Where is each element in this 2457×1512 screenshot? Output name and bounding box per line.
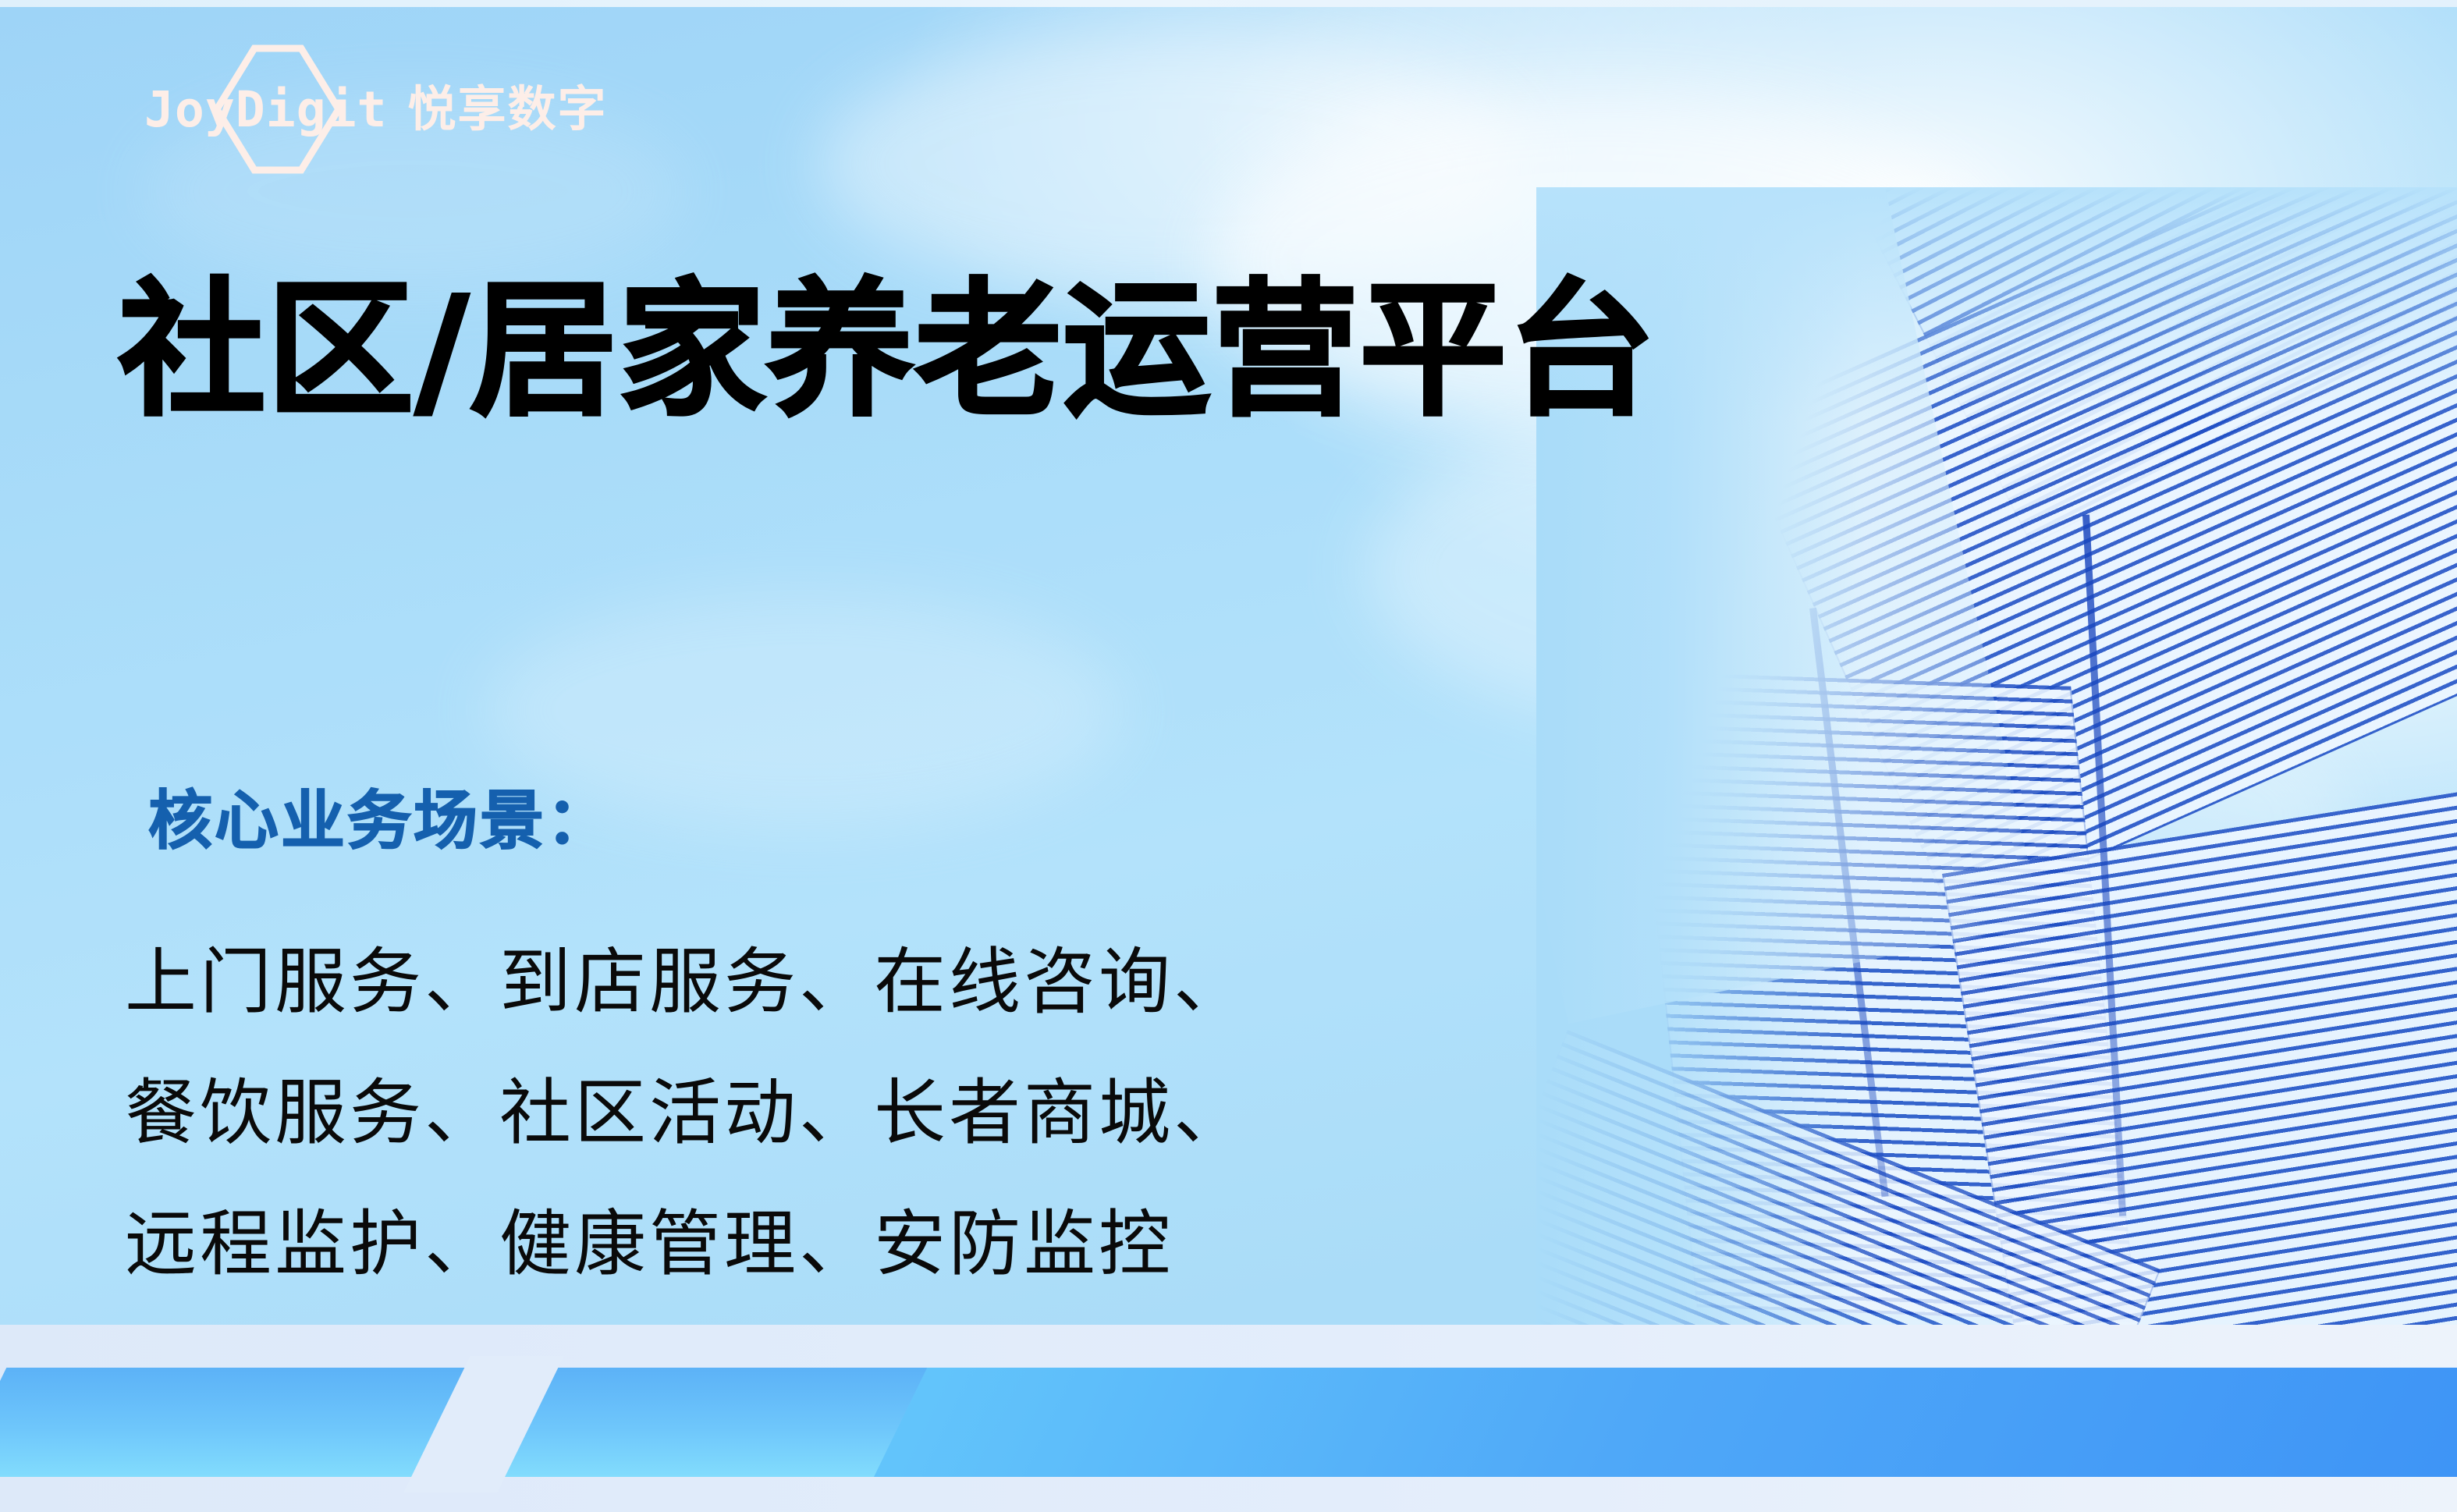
- business-scenario-list: 上门服务、到店服务、在线咨询、 餐饮服务、社区活动、长者商城、 远程监护、健康管…: [125, 917, 1248, 1310]
- top-accent-strip: [0, 0, 2457, 7]
- skyscraper-photo: [1536, 187, 2457, 1381]
- list-item: 远程监护、健康管理、安防监控: [125, 1179, 1248, 1310]
- section-heading: 核心业务场景：: [148, 768, 612, 861]
- list-item: 餐饮服务、社区活动、长者商城、: [125, 1048, 1248, 1179]
- brand-logo-cn: 悦享数字: [407, 85, 607, 133]
- page-title: 社区/居家养老运营平台: [119, 275, 1656, 428]
- photo-top-fade: [1536, 187, 2457, 421]
- bottom-decoration: [0, 1325, 2457, 1512]
- brand-logo[interactable]: JoyDigit 悦享数字: [144, 72, 607, 147]
- list-item: 上门服务、到店服务、在线咨询、: [125, 917, 1248, 1048]
- brand-logo-latin: JoyDigit: [144, 85, 387, 134]
- slide-root: JoyDigit 悦享数字 社区/居家养老运营平台 核心业务场景： 上门服务、到…: [0, 0, 2457, 1512]
